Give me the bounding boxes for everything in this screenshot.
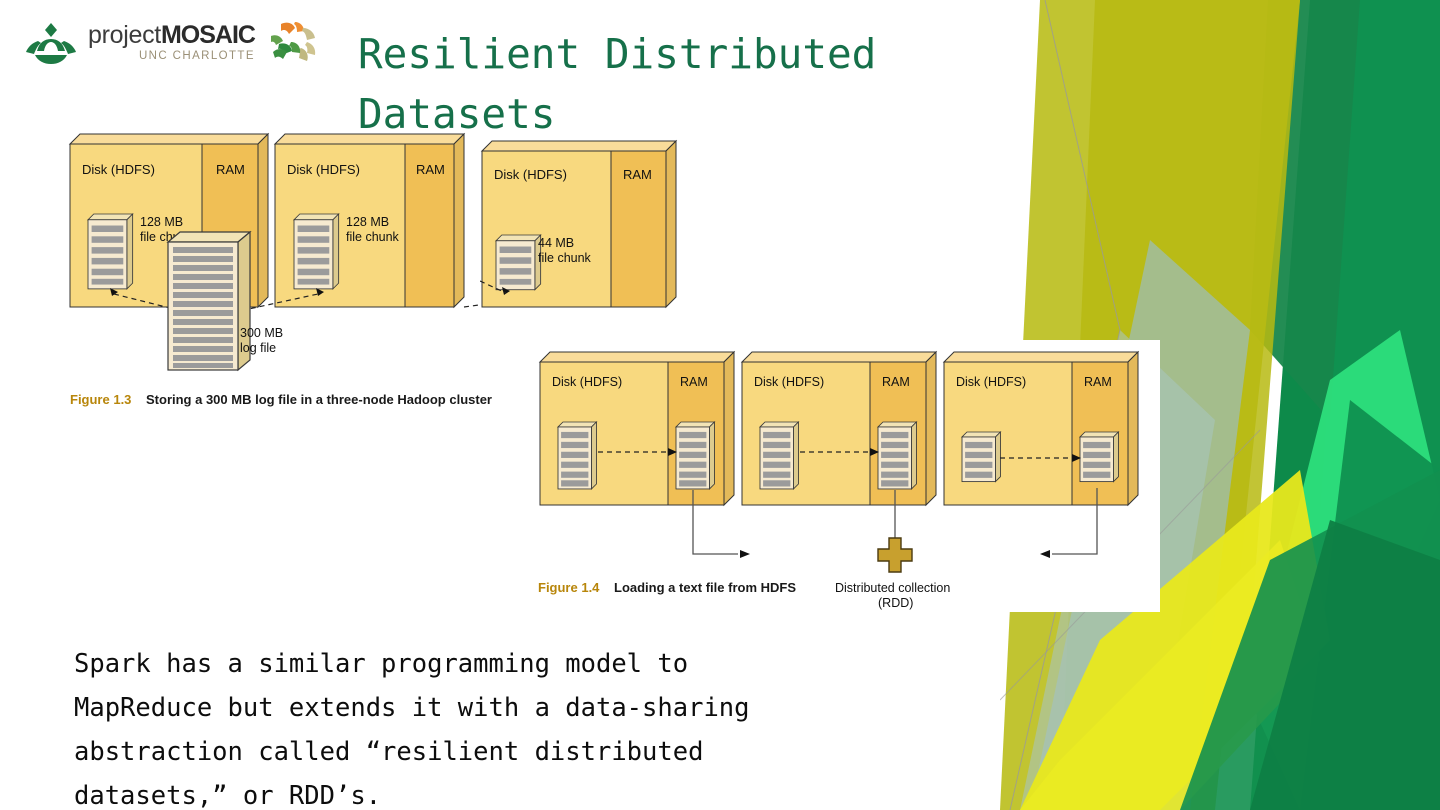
figure14-rdd-label-line1: Distributed collection xyxy=(835,581,950,595)
logo-subtitle: UNC CHARLOTTE xyxy=(88,51,255,63)
figure13-caption-label: Figure 1.3 xyxy=(70,392,131,407)
slide-root: projectMOSAIC UNC CHARLOTTE Resilient Di… xyxy=(0,0,1440,810)
mosaic-pinwheel-icon xyxy=(267,20,319,66)
logo-mosaic-text: MOSAIC xyxy=(161,21,255,49)
svg-text:Disk (HDFS): Disk (HDFS) xyxy=(287,162,360,177)
svg-text:file chunk: file chunk xyxy=(346,230,400,244)
svg-text:Disk (HDFS): Disk (HDFS) xyxy=(494,167,567,182)
figure14-caption-label: Figure 1.4 xyxy=(538,580,600,595)
project-mosaic-logo: projectMOSAIC UNC CHARLOTTE xyxy=(22,20,319,66)
svg-text:128 MB: 128 MB xyxy=(140,215,183,229)
figure14-node-2: Disk (HDFS) RAM xyxy=(742,352,936,555)
logo-wordmark: projectMOSAIC UNC CHARLOTTE xyxy=(88,23,255,63)
logo-project-text: project xyxy=(88,21,161,49)
svg-text:file chunk: file chunk xyxy=(538,251,592,265)
body-paragraph: Spark has a similar programming model to… xyxy=(74,642,904,810)
svg-text:Disk (HDFS): Disk (HDFS) xyxy=(956,375,1026,389)
svg-text:300 MB: 300 MB xyxy=(240,326,283,340)
figure13-caption-text: Storing a 300 MB log file in a three-nod… xyxy=(146,392,492,407)
svg-text:RAM: RAM xyxy=(1084,375,1112,389)
figure13-node-3-box: Disk (HDFS) RAM 44 MB file chunk xyxy=(480,139,680,309)
figure14-rdd-label-line2: (RDD) xyxy=(878,596,913,610)
svg-text:log file: log file xyxy=(240,341,276,355)
figure-1-4-image: Disk (HDFS) RAM xyxy=(530,340,1160,612)
figure14-node-1: Disk (HDFS) RAM xyxy=(540,352,738,554)
lotus-logo-icon xyxy=(22,21,80,65)
svg-text:RAM: RAM xyxy=(623,167,652,182)
svg-text:RAM: RAM xyxy=(882,375,910,389)
svg-text:Disk (HDFS): Disk (HDFS) xyxy=(82,162,155,177)
svg-text:RAM: RAM xyxy=(416,162,445,177)
page-title: Resilient Distributed Datasets xyxy=(358,24,1098,144)
svg-text:44 MB: 44 MB xyxy=(538,236,574,250)
svg-text:128 MB: 128 MB xyxy=(346,215,389,229)
svg-text:RAM: RAM xyxy=(680,375,708,389)
figure-1-3-image: Disk (HDFS) RAM 128 MB file chunk xyxy=(68,132,498,414)
logo-wordmark-line1: projectMOSAIC xyxy=(88,23,255,48)
svg-text:Disk (HDFS): Disk (HDFS) xyxy=(552,375,622,389)
svg-text:RAM: RAM xyxy=(216,162,245,177)
svg-text:Disk (HDFS): Disk (HDFS) xyxy=(754,375,824,389)
figure14-rdd-collection: Distributed collection (RDD) xyxy=(740,538,1050,610)
figure14-caption-text: Loading a text file from HDFS xyxy=(614,580,796,595)
figure14-node-3: Disk (HDFS) RAM xyxy=(944,352,1138,554)
